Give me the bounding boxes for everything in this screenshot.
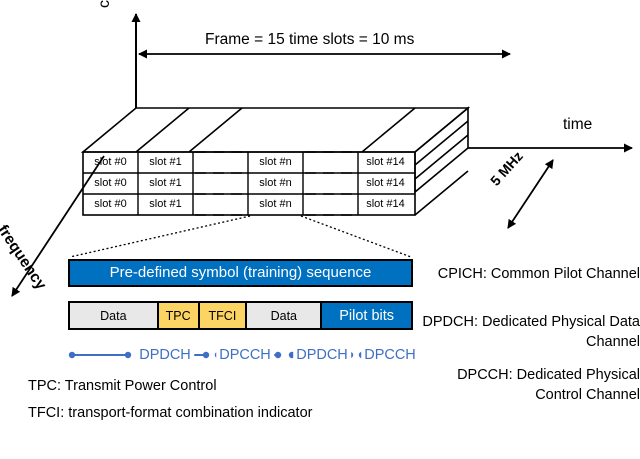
- channel-label-dpcch: DPCCH: [216, 344, 274, 366]
- slot-cell: slot #0: [83, 152, 138, 173]
- slot-cell: slot #n: [248, 173, 303, 194]
- slot-cell: slot #1: [138, 194, 193, 215]
- slot-cell: slot #14: [358, 194, 413, 215]
- legend-cpich: CPICH: Common Pilot Channel: [418, 265, 640, 285]
- channel-mapping-strip: DPDCHDPCCHDPDCHDPCCH: [60, 344, 420, 366]
- training-sequence-bar: Pre-defined symbol (training) sequence: [68, 259, 413, 287]
- slot-cell: slot #14: [358, 152, 413, 173]
- slot-cell: slot #0: [83, 173, 138, 194]
- slot-cell: slot #14: [358, 173, 413, 194]
- slot-field-data: Data: [70, 303, 159, 328]
- legend-dpcch: DPCCH: Dedicated Physical Control Channe…: [418, 366, 640, 405]
- slot-cell: slot #1: [138, 152, 193, 173]
- channel-label-dpdch: DPDCH: [293, 344, 351, 366]
- legend-dpdch: DPDCH: Dedicated Physical Data Channel: [418, 313, 640, 352]
- time-axis-label: time: [563, 116, 592, 134]
- channel-label-dpcch: DPCCH: [361, 344, 419, 366]
- slot-detail-callout: [70, 216, 411, 257]
- frame-caption: Frame = 15 time slots = 10 ms: [205, 31, 414, 49]
- slot-field-pilot: Pilot bits: [322, 303, 411, 328]
- slot-cell: slot #0: [83, 194, 138, 215]
- legend-tfci: TFCI: transport-format combination indic…: [28, 405, 312, 422]
- slot-field-tpc: TPC: [159, 303, 200, 328]
- diagram-canvas: code Frame = 15 time slots = 10 ms time …: [0, 0, 640, 459]
- slot-cell: slot #n: [248, 194, 303, 215]
- legend-tpc: TPC: Transmit Power Control: [28, 378, 217, 395]
- slot-cell: slot #n: [248, 152, 303, 173]
- slot-fields-bar: DataTPCTFCIDataPilot bits: [68, 301, 413, 330]
- slot-field-data: Data: [247, 303, 322, 328]
- channel-label-dpdch: DPDCH: [136, 344, 194, 366]
- code-axis-label: code: [96, 0, 115, 8]
- slot-cell: slot #1: [138, 173, 193, 194]
- slot-field-tfci: TFCI: [200, 303, 248, 328]
